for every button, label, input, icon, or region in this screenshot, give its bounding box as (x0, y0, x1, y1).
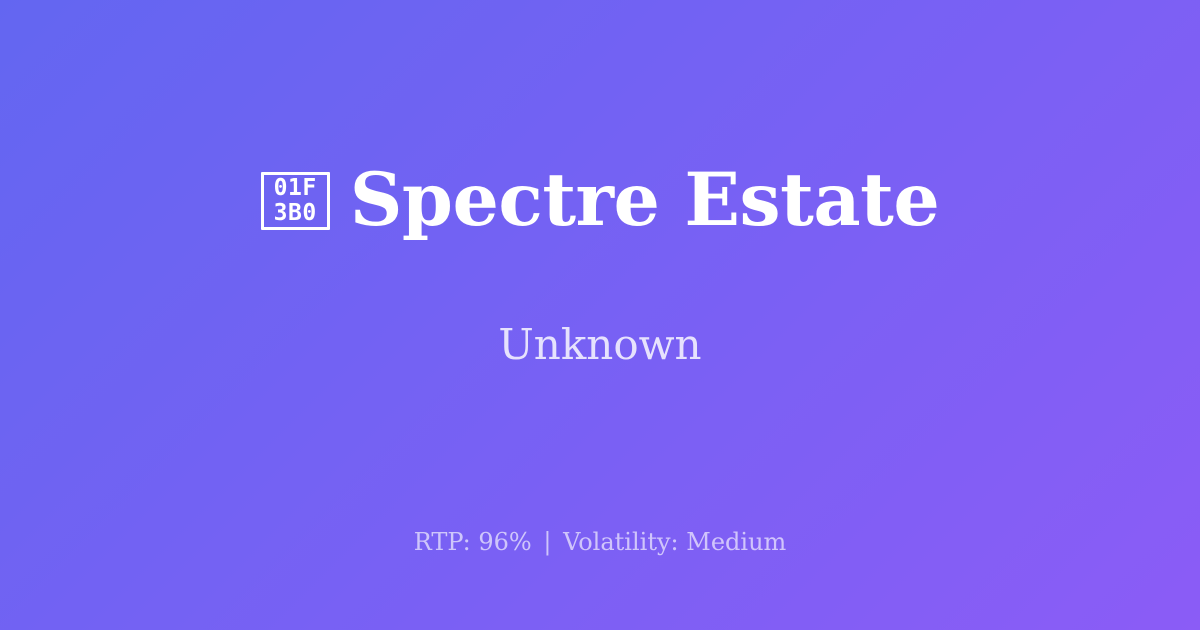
hero-block: 01F 3B0 Spectre Estate Unknown (0, 0, 1200, 500)
og-share-card: 01F 3B0 Spectre Estate Unknown RTP: 96% … (0, 0, 1200, 630)
tofu-codepoint-bottom: 3B0 (274, 201, 317, 226)
volatility-label: Volatility: (563, 528, 679, 556)
page-subtitle: Unknown (498, 322, 701, 368)
tofu-codepoint-top: 01F (274, 176, 317, 201)
footer-meta: RTP: 96% | Volatility: Medium (0, 527, 1200, 557)
meta-separator: | (539, 528, 555, 556)
page-title: Spectre Estate (350, 163, 940, 237)
title-row: 01F 3B0 Spectre Estate (261, 114, 940, 286)
rtp-value: 96% (478, 528, 531, 556)
slot-machine-emoji-icon: 01F 3B0 (261, 172, 330, 230)
rtp-label: RTP: (414, 528, 471, 556)
volatility-value: Medium (686, 528, 786, 556)
